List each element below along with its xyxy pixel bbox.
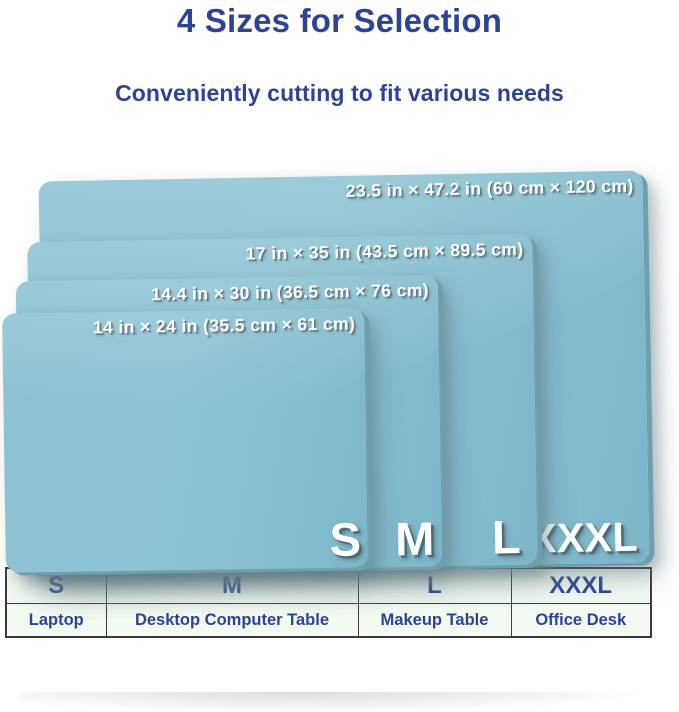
mat-l-size-letter: L (492, 513, 522, 560)
table-row-sizes: S M L XXXL (6, 568, 651, 604)
table-row-uses: Laptop Desktop Computer Table Makeup Tab… (6, 604, 651, 638)
mat-m-size-letter: M (395, 515, 435, 563)
table-cell-use-s: Laptop (6, 604, 106, 638)
page-title: 4 Sizes for Selection (0, 2, 679, 40)
mat-xxxl-dimension-label: 23.5 in × 47.2 in (60 cm × 120 cm) (346, 176, 634, 202)
table-cell-size-l: L (358, 568, 511, 604)
mat-l-dimension-label: 17 in × 35 in (43.5 cm × 89.5 cm) (246, 239, 524, 265)
mat-s-size-letter: S (329, 515, 362, 562)
table-cell-size-xxxl: XXXL (511, 568, 651, 604)
table-cell-size-s: S (6, 568, 106, 604)
mat-size-comparison-diagram: 23.5 in × 47.2 in (60 cm × 120 cm) XXXL … (0, 150, 679, 560)
mat-xxxl-size-letter: XXXL (529, 517, 639, 560)
mat-s: 14 in × 24 in (35.5 cm × 61 cm) S (2, 308, 368, 572)
page-subtitle: Conveniently cutting to fit various need… (0, 80, 679, 107)
ground-shadow (20, 692, 640, 712)
mat-s-dimension-label: 14 in × 24 in (35.5 cm × 61 cm) (93, 313, 356, 338)
table-cell-use-xxxl: Office Desk (511, 604, 651, 638)
table-cell-use-m: Desktop Computer Table (106, 604, 358, 638)
size-usage-table: S M L XXXL Laptop Desktop Computer Table… (5, 567, 652, 638)
table-cell-use-l: Makeup Table (358, 604, 511, 638)
table-cell-size-m: M (106, 568, 358, 604)
mat-m-dimension-label: 14.4 in × 30 in (36.5 cm × 76 cm) (151, 280, 429, 305)
